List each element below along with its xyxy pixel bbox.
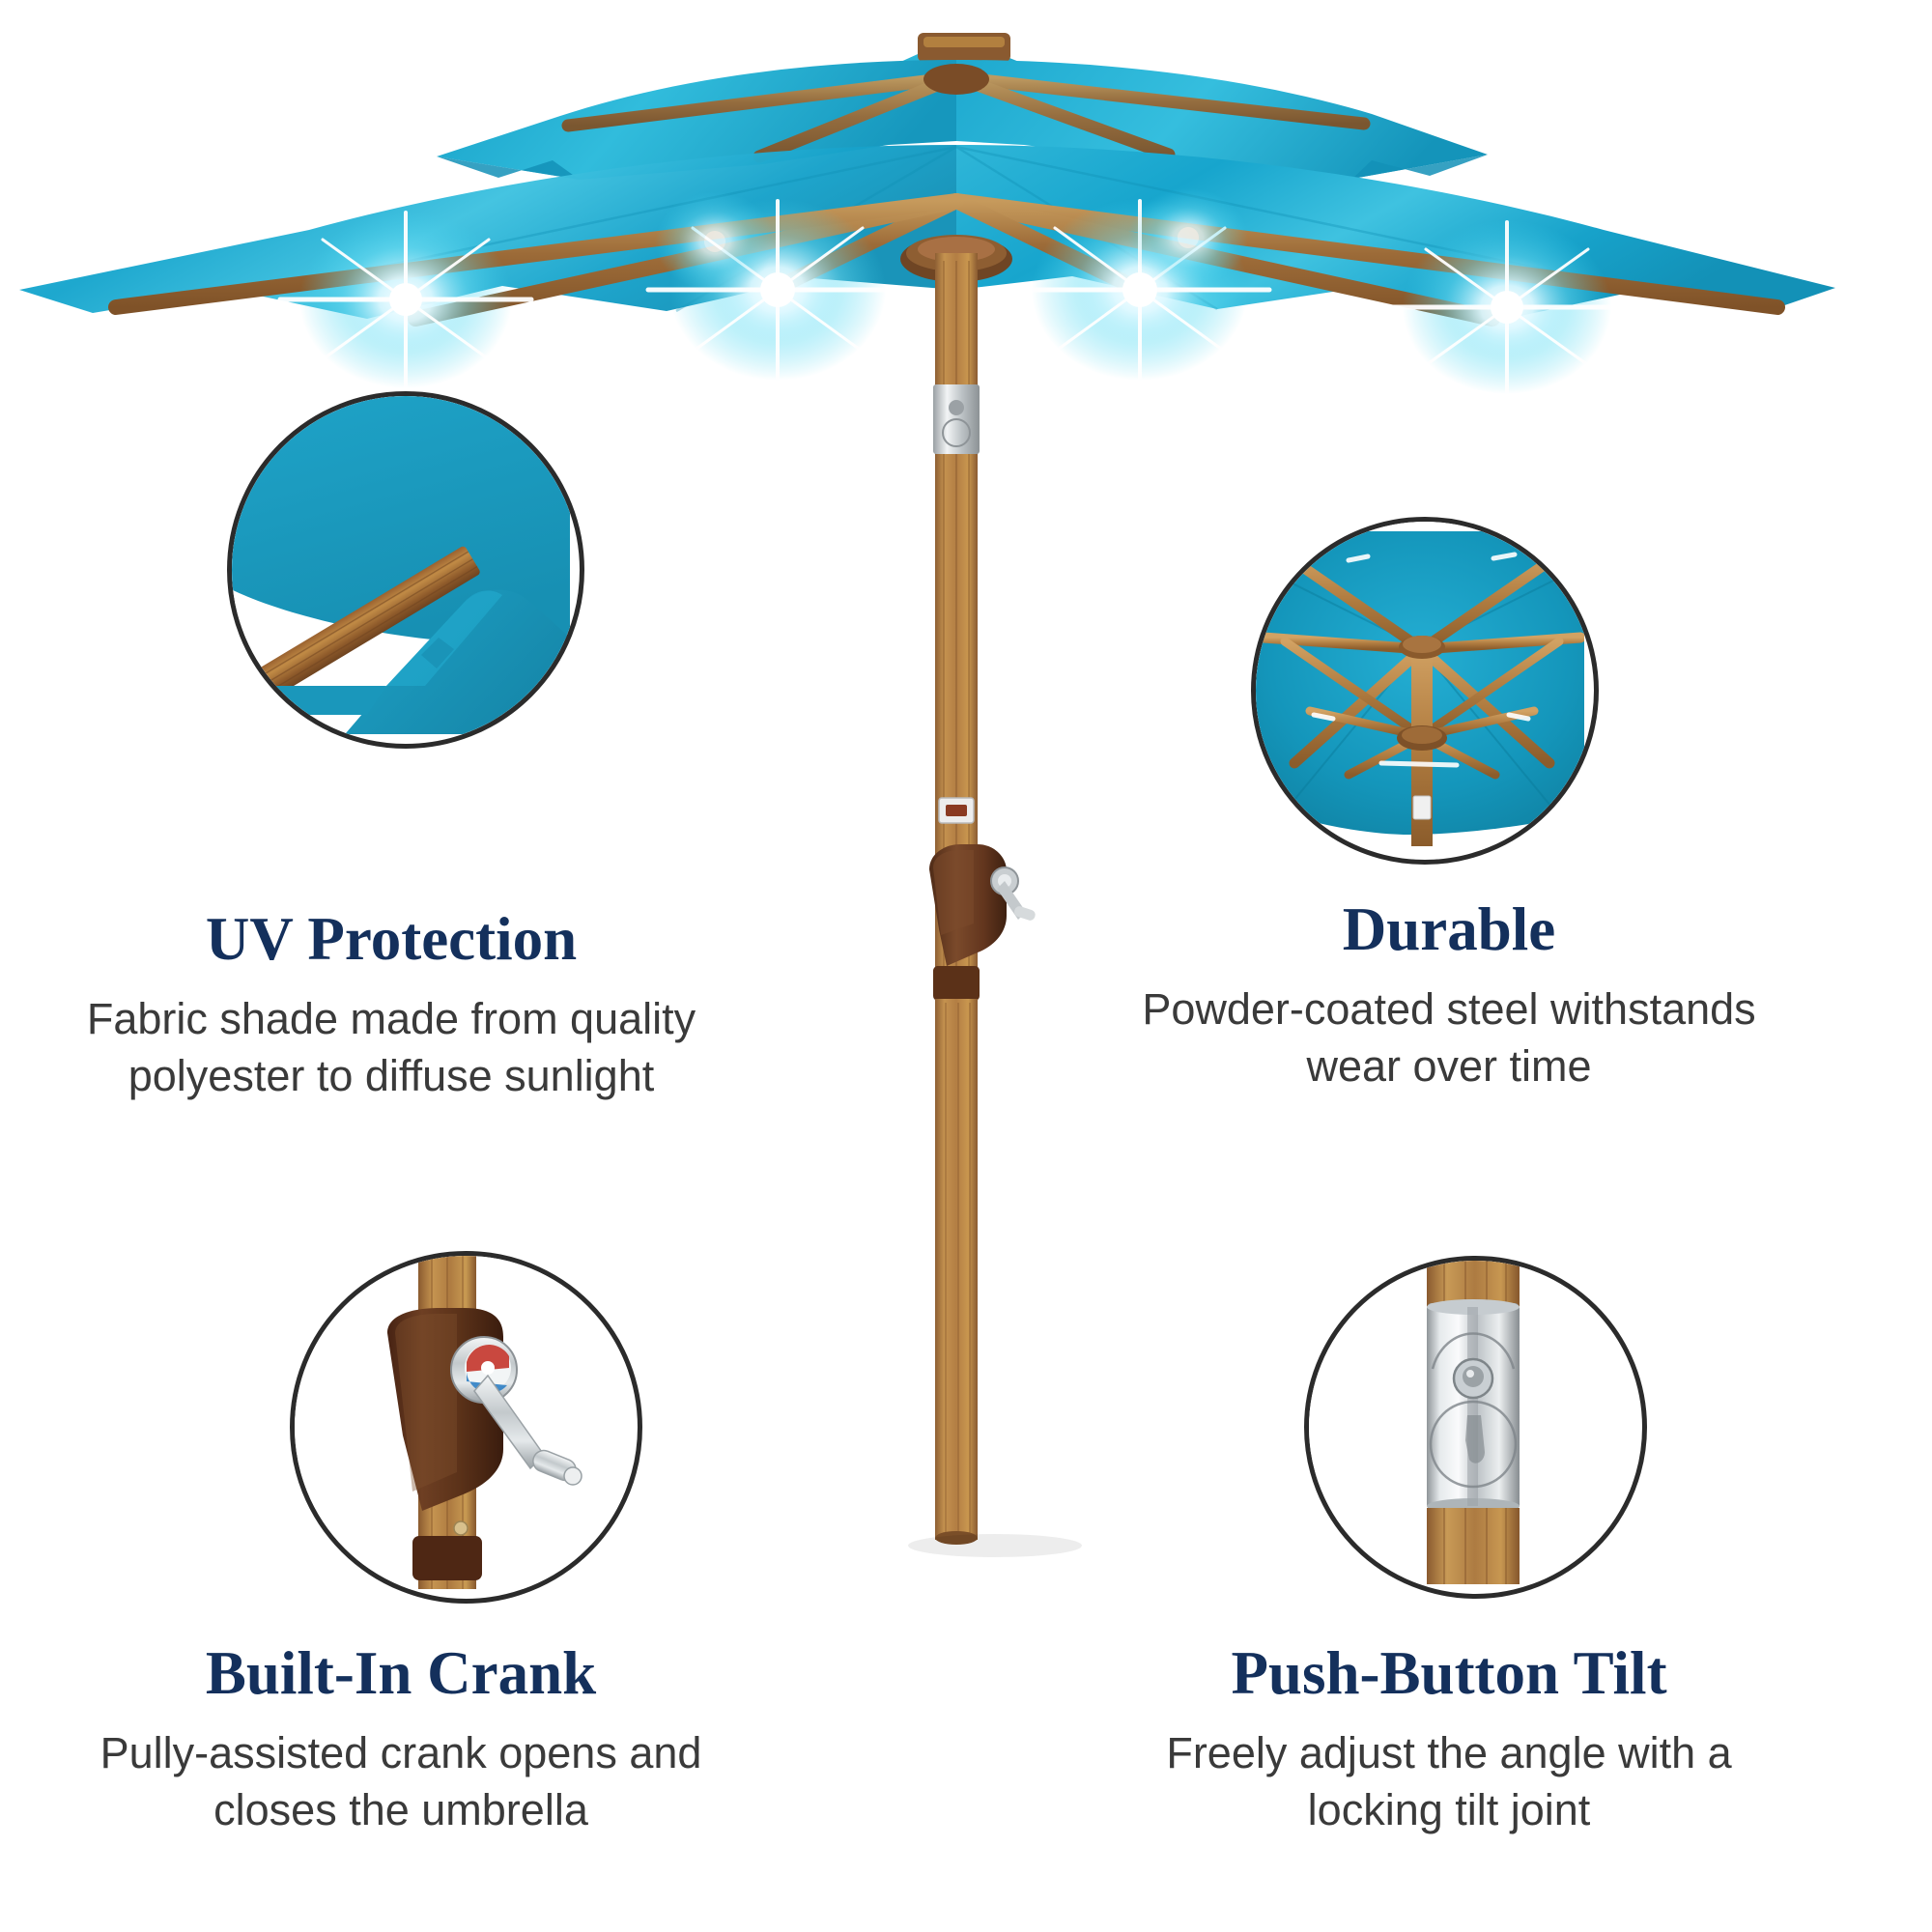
tilt-joint-icon: [1309, 1261, 1633, 1584]
feature-text-durable: Durable Powder-coated steel withstands w…: [1024, 898, 1874, 1094]
feature-image-durable: [1251, 517, 1599, 865]
feature-description-push-button-tilt: Freely adjust the angle with a locking t…: [1019, 1725, 1879, 1838]
feature-image-uv-protection: [227, 391, 584, 749]
feature-title-durable: Durable: [1024, 898, 1874, 960]
crank-handle-icon: [295, 1256, 628, 1589]
umbrella-underside-icon: [1256, 522, 1584, 850]
feature-title-push-button-tilt: Push-Button Tilt: [1019, 1642, 1879, 1704]
feature-title-built-in-crank: Built-In Crank: [19, 1642, 782, 1704]
feature-text-built-in-crank: Built-In Crank Pully-assisted crank open…: [19, 1642, 782, 1838]
fabric-closeup-icon: [232, 396, 570, 734]
feature-text-uv-protection: UV Protection Fabric shade made from qua…: [19, 908, 763, 1104]
feature-image-push-button-tilt: [1304, 1256, 1647, 1599]
feature-image-built-in-crank: [290, 1251, 642, 1604]
feature-text-push-button-tilt: Push-Button Tilt Freely adjust the angle…: [1019, 1642, 1879, 1838]
feature-description-uv-protection: Fabric shade made from quality polyester…: [19, 991, 763, 1104]
infographic-canvas: UV Protection Fabric shade made from qua…: [0, 0, 1932, 1932]
feature-title-uv-protection: UV Protection: [19, 908, 763, 970]
feature-description-built-in-crank: Pully-assisted crank opens and closes th…: [19, 1725, 782, 1838]
feature-description-durable: Powder-coated steel withstands wear over…: [1024, 981, 1874, 1094]
pole-crank-assembly: [929, 844, 1037, 976]
